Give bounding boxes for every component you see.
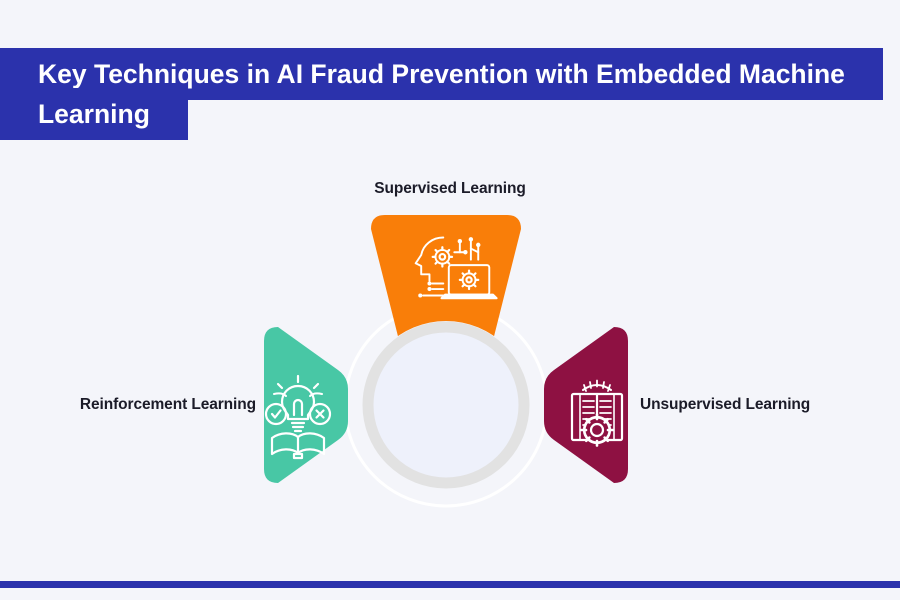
footer-accent-bar bbox=[0, 581, 900, 588]
page-title: Key Techniques in AI Fraud Prevention wi… bbox=[0, 54, 868, 135]
center-hub-ring bbox=[368, 327, 524, 483]
node-label-supervised: Supervised Learning bbox=[0, 180, 900, 198]
node-label-reinforcement: Reinforcement Learning bbox=[0, 396, 256, 414]
infographic-diagram: Supervised Learning Reinforcement Learni… bbox=[0, 150, 900, 550]
wedge-unsupervised[interactable] bbox=[544, 327, 628, 483]
page-title-text: Key Techniques in AI Fraud Prevention wi… bbox=[38, 48, 845, 140]
node-label-unsupervised: Unsupervised Learning bbox=[640, 396, 810, 414]
diagram-canvas bbox=[0, 150, 900, 550]
